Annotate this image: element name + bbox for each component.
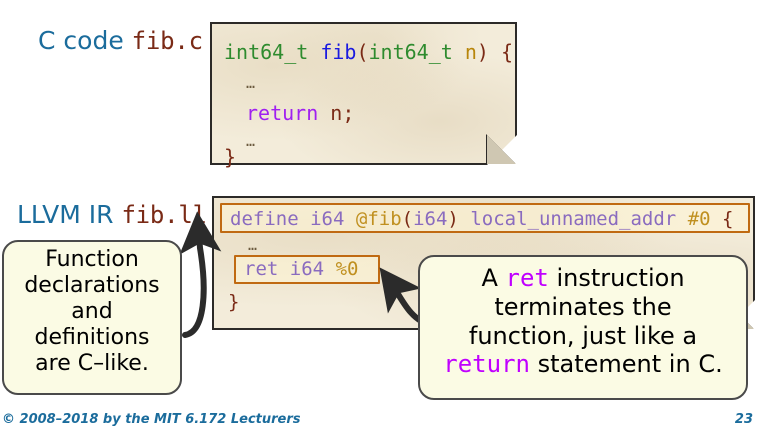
callout-right-text-b: instruction	[549, 264, 685, 292]
callout-right-line-4: return statement in C.	[420, 350, 746, 379]
ir-ret-value-token: %0	[336, 258, 359, 280]
ir-attr-group-token: #0	[688, 208, 711, 230]
callout-right-ret-keyword: ret	[506, 264, 549, 292]
c-code-line-return: return n;	[246, 103, 354, 123]
c-code-paper-box: int64_t fib(int64_t n) { … return n; … }	[210, 22, 517, 165]
slide-canvas: C code fib.c int64_t fib(int64_t n) { … …	[0, 0, 763, 440]
c-type-token: int64_t	[224, 40, 308, 64]
callout-left-line-5: are C–like.	[4, 351, 180, 377]
c-function-token: fib	[320, 40, 356, 64]
ir-open-brace: {	[722, 208, 733, 230]
ir-define-keyword: define	[230, 208, 299, 230]
c-code-ellipsis-1: …	[246, 76, 255, 91]
callout-function-declarations: Function declarations and definitions ar…	[2, 240, 182, 395]
c-code-filename: fib.c	[132, 27, 203, 55]
c-arg-name-token: n	[465, 40, 477, 64]
ir-ret-type-token: i64	[290, 258, 324, 280]
copyright-text: © 2008–2018 by the MIT 6.172 Lecturers	[2, 412, 301, 427]
ir-attribute-token: local_unnamed_addr	[470, 208, 676, 230]
c-return-expression: n;	[330, 101, 354, 125]
callout-left-line-4: definitions	[4, 325, 180, 351]
c-paren-open: (	[356, 40, 368, 64]
ir-function-symbol: @fib	[356, 208, 402, 230]
callout-left-line-2: declarations	[4, 273, 180, 299]
c-code-line-1: int64_t fib(int64_t n) {	[224, 42, 513, 62]
page-fold-triangle-icon	[487, 135, 516, 164]
c-paren-close-brace: ) {	[477, 40, 513, 64]
callout-right-line-1: A ret instruction	[420, 264, 746, 293]
ir-arg-type-token: i64	[413, 208, 447, 230]
ir-code-line-ret: ret i64 %0	[244, 260, 358, 279]
ir-return-type-token: i64	[310, 208, 344, 230]
callout-ret-instruction: A ret instruction terminates the functio…	[418, 255, 748, 400]
ir-paren-open: (	[402, 208, 413, 230]
c-code-title: C code	[38, 26, 124, 55]
ir-code-label: LLVM IR fib.ll	[17, 202, 207, 227]
c-code-ellipsis-2: …	[246, 134, 255, 149]
ir-code-closing-brace: }	[228, 293, 239, 312]
callout-left-line-3: and	[4, 299, 180, 325]
ir-ret-keyword: ret	[244, 258, 278, 280]
callout-left-line-1: Function	[4, 247, 180, 273]
callout-right-text-a: A	[481, 264, 505, 292]
c-code-label: C code fib.c	[38, 28, 203, 53]
c-arg-type-token: int64_t	[369, 40, 453, 64]
page-number: 23	[735, 412, 753, 427]
ir-code-ellipsis: …	[248, 238, 257, 253]
slide-footer: © 2008–2018 by the MIT 6.172 Lecturers 2…	[0, 410, 763, 432]
callout-right-text-c: statement in C.	[530, 350, 723, 378]
ir-code-filename: fib.ll	[121, 201, 207, 229]
arrow-left-callout-to-define	[185, 222, 204, 335]
callout-right-line-3: function, just like a	[420, 322, 746, 351]
ir-code-line-define: define i64 @fib(i64) local_unnamed_addr …	[230, 210, 733, 229]
callout-right-line-2: terminates the	[420, 293, 746, 322]
c-return-keyword: return	[246, 101, 318, 125]
ir-paren-close: )	[447, 208, 458, 230]
c-code-closing-brace: }	[224, 147, 236, 167]
callout-right-return-keyword: return	[443, 350, 530, 378]
ir-code-title: LLVM IR	[17, 200, 113, 229]
